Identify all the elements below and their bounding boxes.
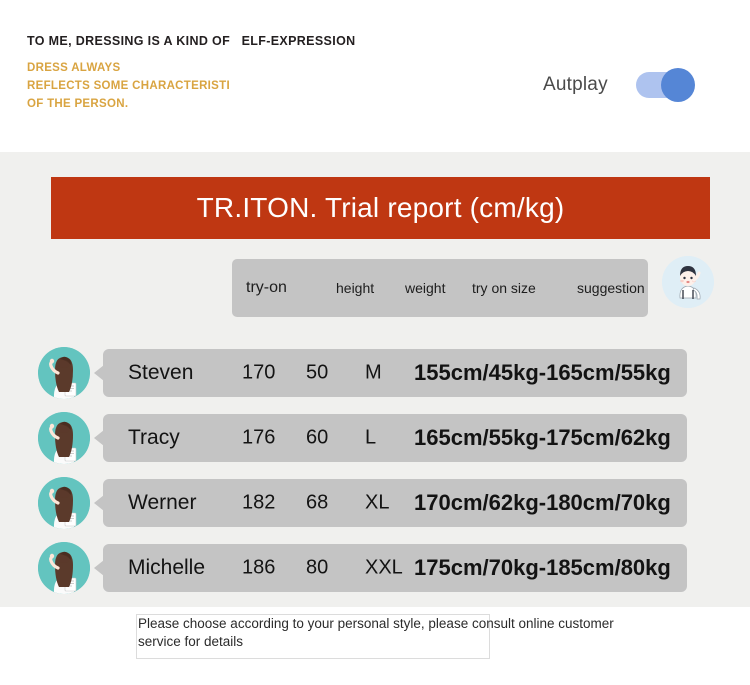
cell-name: Steven [128,361,193,385]
footer-note: Please choose according to your personal… [138,615,628,651]
column-header-height: height [336,280,374,296]
column-header-weight: weight [405,280,445,296]
cell-weight: 60 [306,427,328,450]
autoplay-toggle[interactable] [636,72,692,98]
cell-size: M [365,362,382,385]
cell-suggestion: 165cm/55kg-175cm/62kg [414,425,671,451]
cell-size: XL [365,492,389,515]
table-row[interactable]: Steven 170 50 M 155cm/45kg-165cm/55kg [0,347,750,399]
cell-suggestion: 170cm/62kg-180cm/70kg [414,490,671,516]
table-row[interactable]: Michelle 186 80 XXL 175cm/70kg-185cm/80k… [0,542,750,594]
toggle-knob-icon [661,68,695,102]
cell-height: 176 [242,427,275,450]
cell-size: L [365,427,376,450]
column-header-try-on: try-on [246,279,287,297]
promo-header: TO ME, DRESSING IS A KIND OF ELF-EXPRESS… [0,0,750,152]
report-banner-title: TR.ITON. Trial report (cm/kg) [197,192,565,224]
cell-weight: 50 [306,362,328,385]
slogan-sub-line-3: OF THE PERSON. [27,95,230,113]
column-header-try-on-size: try on size [472,280,536,296]
cell-name: Tracy [128,426,180,450]
cell-name: Michelle [128,556,205,580]
cell-size: XXL [365,557,403,580]
slogan-sub: DRESS ALWAYS REFLECTS SOME CHARACTERISTI… [27,59,230,113]
cell-height: 170 [242,362,275,385]
cell-suggestion: 155cm/45kg-165cm/55kg [414,360,671,386]
column-header-suggestion: suggestion [577,280,645,296]
cell-suggestion: 175cm/70kg-185cm/80kg [414,555,671,581]
table-row[interactable]: Werner 182 68 XL 170cm/62kg-180cm/70kg [0,477,750,529]
cell-height: 186 [242,557,275,580]
autoplay-label: Autplay [543,74,608,96]
table-row[interactable]: Tracy 176 60 L 165cm/55kg-175cm/62kg [0,412,750,464]
row-bubble[interactable]: Tracy 176 60 L 165cm/55kg-175cm/62kg [103,414,687,462]
cell-weight: 80 [306,557,328,580]
avatar-girl-icon [38,477,90,529]
autoplay-control[interactable]: Autplay [543,72,692,98]
cell-name: Werner [128,491,196,515]
cell-weight: 68 [306,492,328,515]
slogan-sub-line-2: REFLECTS SOME CHARACTERISTI [27,77,230,95]
slogan-sub-line-1: DRESS ALWAYS [27,59,230,77]
avatar-girl-icon [38,347,90,399]
header-avatar-boy [662,256,714,308]
report-banner: TR.ITON. Trial report (cm/kg) [51,177,710,239]
row-bubble[interactable]: Michelle 186 80 XXL 175cm/70kg-185cm/80k… [103,544,687,592]
cell-height: 182 [242,492,275,515]
avatar-girl-icon [38,542,90,594]
table-header-row: try-on height weight try on size suggest… [232,259,648,317]
slogan-main: TO ME, DRESSING IS A KIND OF ELF-EXPRESS… [27,34,356,48]
row-bubble[interactable]: Werner 182 68 XL 170cm/62kg-180cm/70kg [103,479,687,527]
row-bubble[interactable]: Steven 170 50 M 155cm/45kg-165cm/55kg [103,349,687,397]
avatar-girl-icon [38,412,90,464]
footer: Please choose according to your personal… [0,607,750,685]
